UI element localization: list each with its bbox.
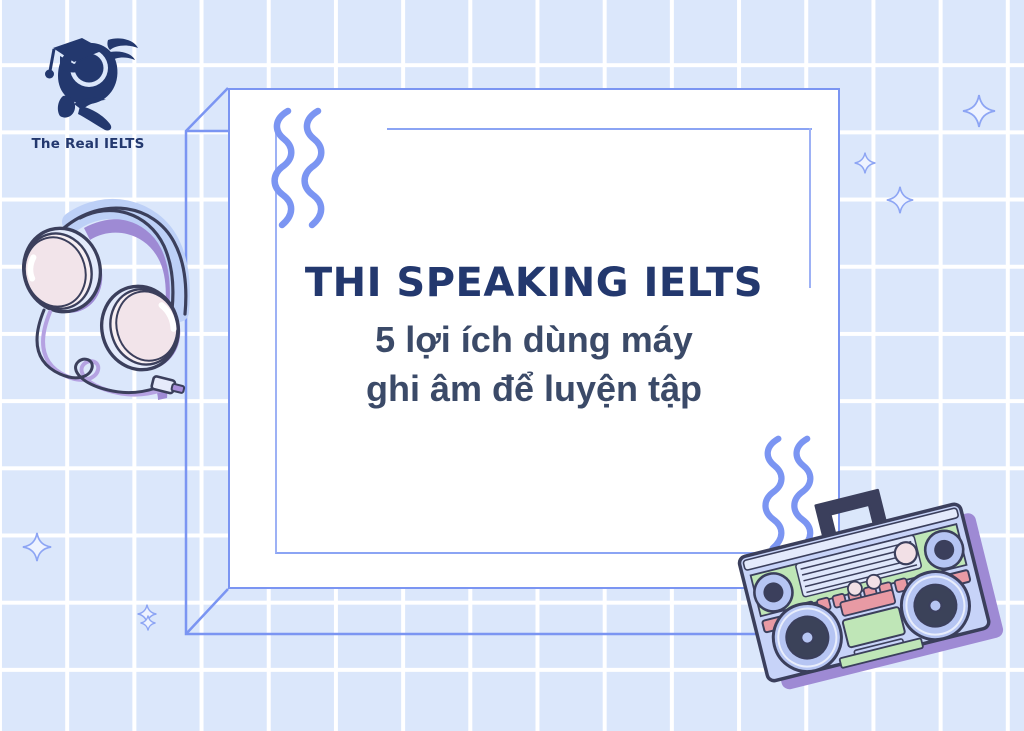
headphones-illustration — [10, 170, 210, 435]
brand-logo[interactable]: The Real IELTS — [16, 24, 146, 139]
boombox-illustration — [718, 478, 1018, 713]
graduate-bird-logo-icon — [16, 24, 146, 134]
poster-canvas: THI SPEAKING IELTS 5 lợi ích dùng máy gh… — [0, 0, 1024, 731]
squiggle-lines-top-icon — [262, 105, 332, 235]
brand-name: The Real IELTS — [28, 136, 148, 152]
